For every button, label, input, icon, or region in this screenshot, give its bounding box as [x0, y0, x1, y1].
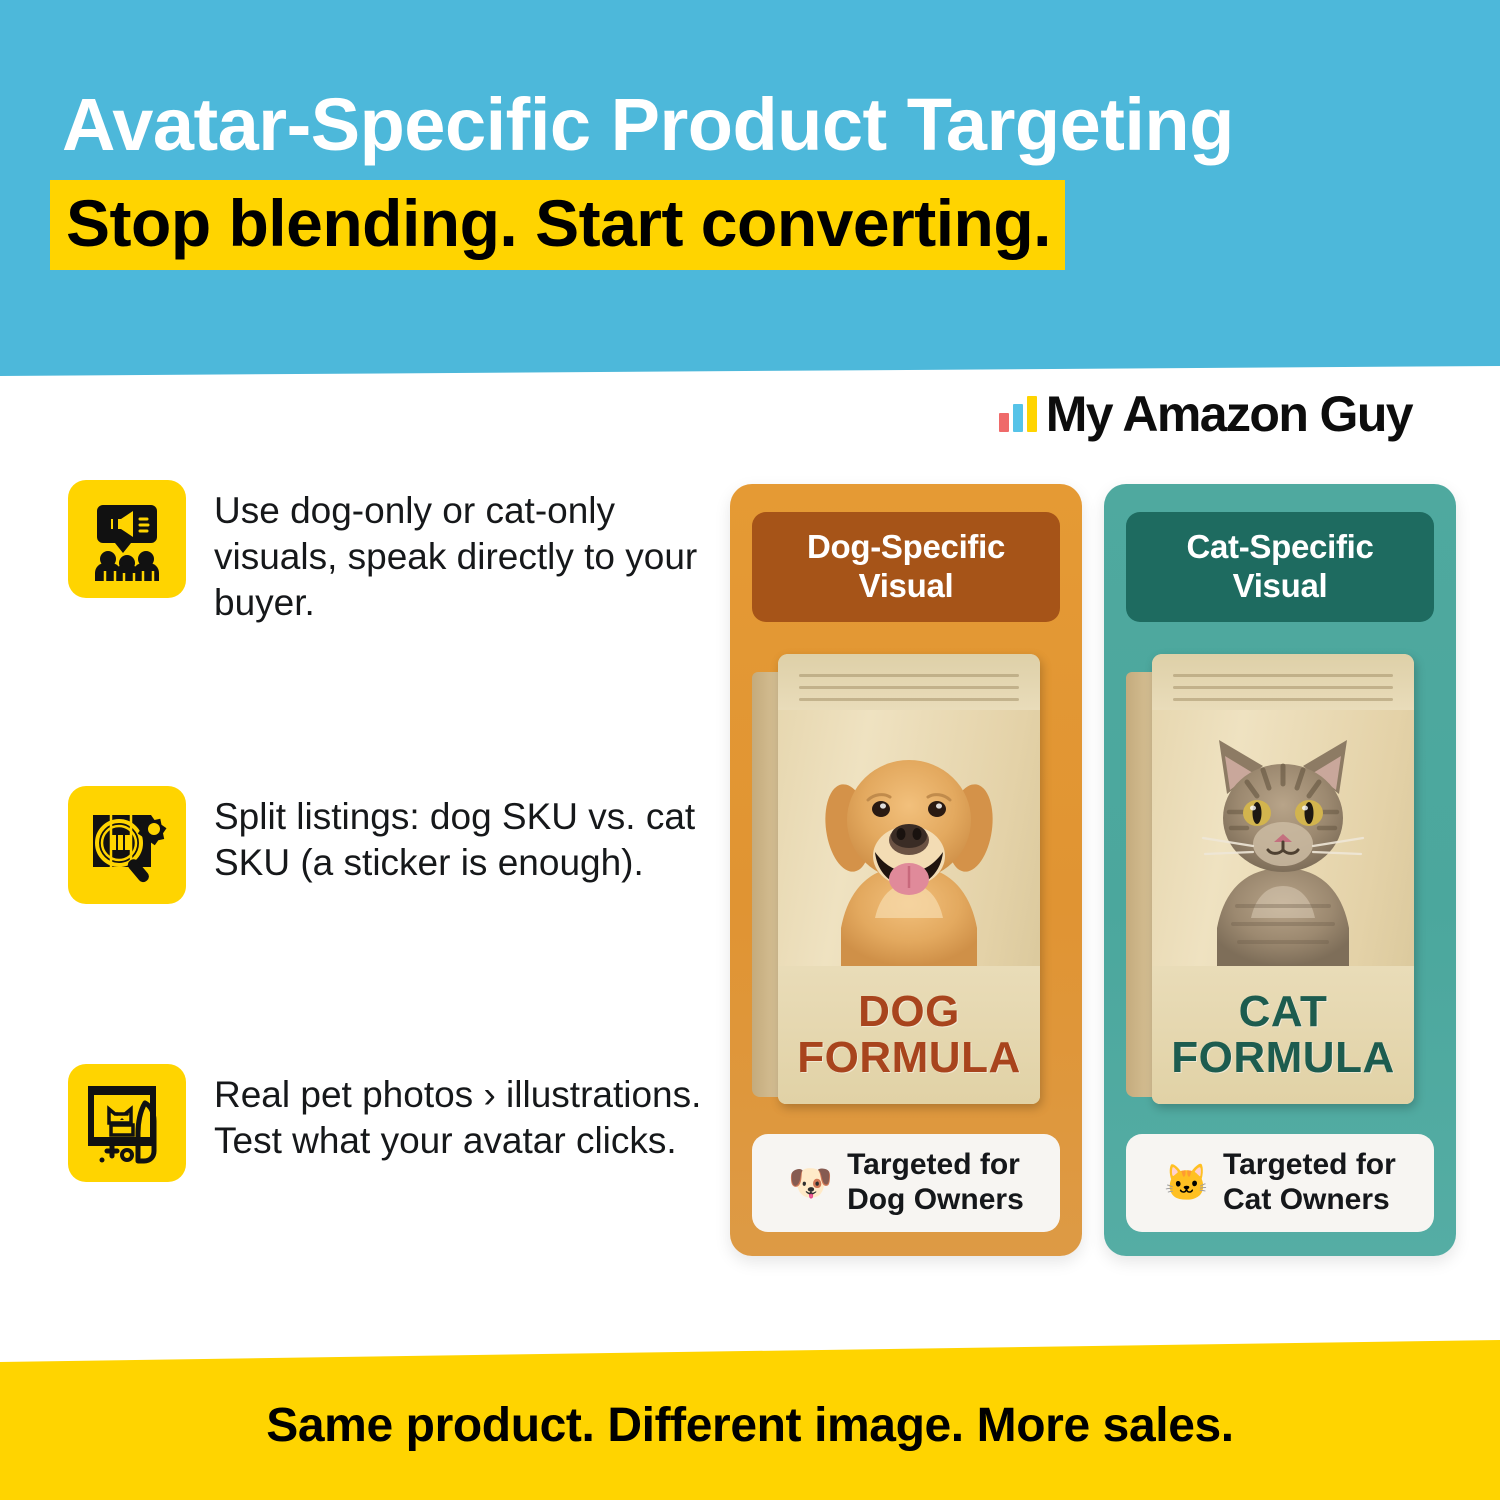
page-subtitle-highlight: Stop blending. Start converting. — [50, 180, 1065, 270]
bag-top-seal — [778, 654, 1040, 710]
bar-chart-icon — [999, 396, 1037, 432]
dog-face-icon: 🐶 — [788, 1165, 833, 1201]
magnifier-gear-icon — [68, 786, 186, 904]
badge-line1: Targeted for — [847, 1148, 1020, 1181]
bag-front: CAT FORMULA — [1152, 654, 1414, 1104]
card-chip-label-dog: Dog-Specific Visual — [752, 512, 1060, 622]
cat-face-icon: 🐱 — [1164, 1165, 1209, 1201]
product-bag-cat: CAT FORMULA — [1126, 642, 1434, 1112]
footer-tagline: Same product. Different image. More sale… — [0, 1398, 1500, 1453]
status-badge-text: Targeted for Dog Owners — [847, 1148, 1024, 1218]
bag-label-line1: CAT — [1239, 990, 1328, 1034]
badge-line2: Dog Owners — [847, 1183, 1024, 1216]
bag-label-cat: CAT FORMULA — [1152, 966, 1414, 1104]
product-bag-dog: DOG FORMULA — [752, 642, 1060, 1112]
badge-line2: Cat Owners — [1223, 1183, 1390, 1216]
bag-label-line1: DOG — [858, 990, 960, 1034]
bag-front: DOG FORMULA — [778, 654, 1040, 1104]
list-item-label: Use dog-only or cat-only visuals, speak … — [214, 480, 708, 626]
status-badge-cat: 🐱 Targeted for Cat Owners — [1126, 1134, 1434, 1232]
bag-label-line2: FORMULA — [797, 1036, 1020, 1080]
list-item-label: Real pet photos › illustrations. Test wh… — [214, 1064, 708, 1164]
page-title: Avatar-Specific Product Targeting — [62, 82, 1234, 167]
list-item: Use dog-only or cat-only visuals, speak … — [68, 480, 708, 626]
list-item: Split listings: dog SKU vs. cat SKU (a s… — [68, 786, 708, 904]
card-chip-label-cat: Cat-Specific Visual — [1126, 512, 1434, 622]
cat-photo — [1167, 716, 1399, 966]
framed-pet-photo-icon — [68, 1064, 186, 1182]
status-badge-dog: 🐶 Targeted for Dog Owners — [752, 1134, 1060, 1232]
list-item-label: Split listings: dog SKU vs. cat SKU (a s… — [214, 786, 708, 886]
bag-label-dog: DOG FORMULA — [778, 966, 1040, 1104]
footer-band: Same product. Different image. More sale… — [0, 1340, 1500, 1500]
brand-logo: My Amazon Guy — [999, 385, 1412, 443]
bag-label-line2: FORMULA — [1171, 1036, 1394, 1080]
brand-name: My Amazon Guy — [1046, 385, 1412, 443]
list-item: Real pet photos › illustrations. Test wh… — [68, 1064, 708, 1182]
bag-top-seal — [1152, 654, 1414, 710]
badge-line1: Targeted for — [1223, 1148, 1396, 1181]
tips-list: Use dog-only or cat-only visuals, speak … — [68, 480, 708, 1182]
product-card-dog: Dog-Specific Visual — [730, 484, 1082, 1256]
product-card-comparison: Dog-Specific Visual — [730, 484, 1456, 1256]
status-badge-text: Targeted for Cat Owners — [1223, 1148, 1396, 1218]
megaphone-audience-icon — [68, 480, 186, 598]
page-subtitle: Stop blending. Start converting. — [66, 190, 1051, 256]
product-card-cat: Cat-Specific Visual — [1104, 484, 1456, 1256]
dog-photo — [793, 716, 1025, 966]
